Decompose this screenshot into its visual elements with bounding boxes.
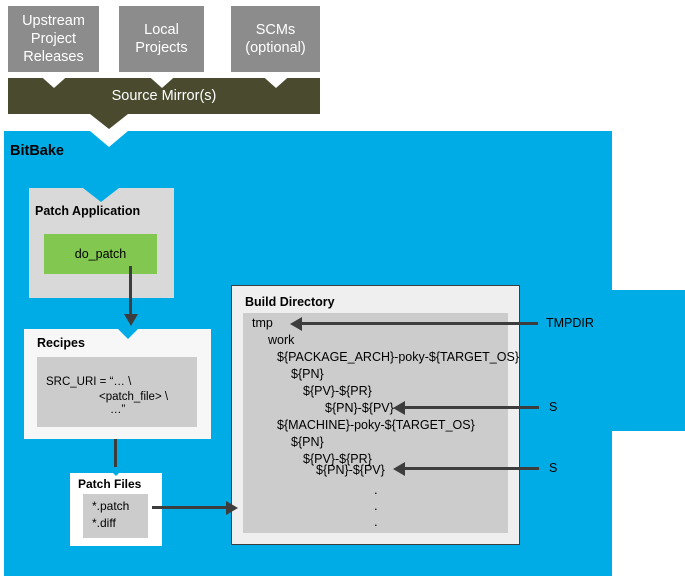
do-patch-task-box[interactable]: do_patch (44, 234, 157, 274)
callout-s1-line (403, 406, 539, 409)
tree-node-pn-1: ${PN} (291, 367, 324, 381)
scms-optional-box: SCMs (optional) (231, 6, 320, 72)
tree-node-package-arch: ${PACKAGE_ARCH}-poky-${TARGET_OS} (277, 350, 519, 364)
build-directory-title: Build Directory (245, 295, 335, 309)
ellipsis-dot-1: . (374, 482, 378, 497)
arrow-patch-files-to-build-dir-line (152, 506, 230, 509)
local-projects-box: Local Projects (119, 6, 204, 72)
arrow-patch-files-to-build-dir-head (226, 501, 238, 515)
tree-node-tmp: tmp (252, 316, 273, 330)
tree-node-machine: ${MACHINE}-poky-${TARGET_OS} (277, 418, 475, 432)
chevron-down-icon-patch-app-top (83, 188, 119, 202)
recipes-title: Recipes (37, 336, 85, 350)
patch-application-title: Patch Application (35, 204, 140, 218)
src-uri-line-2: <patch_file> \ (99, 391, 168, 403)
tree-node-pv-pr-1: ${PV}-${PR} (303, 384, 372, 398)
scms-optional-label: SCMs (optional) (245, 21, 305, 57)
src-uri-line-1: SRC_URI = “… \ (46, 376, 131, 388)
callout-label-tmpdir: TMPDIR (546, 316, 594, 330)
chevron-down-icon-local (144, 72, 180, 88)
callout-label-s-2: S (549, 461, 557, 475)
upstream-project-releases-label: Upstream Project Releases (22, 12, 85, 66)
chevron-down-icon-mirror (90, 114, 128, 129)
list-item: *.patch (92, 498, 148, 515)
source-mirrors-label: Source Mirror(s) (112, 88, 217, 104)
bitbake-label: BitBake (10, 143, 64, 159)
arrow-do-patch-to-recipes-line (129, 266, 132, 316)
diagram-canvas: Upstream Project Releases Local Projects… (0, 0, 685, 576)
bitbake-region-extension (612, 290, 685, 431)
callout-tmpdir-line (300, 322, 538, 325)
chevron-down-icon-bitbake-inlet (90, 131, 128, 147)
local-projects-label: Local Projects (135, 21, 187, 57)
src-uri-line-3: …” (110, 404, 125, 416)
callout-tmpdir-head (290, 317, 302, 331)
patch-files-list: *.patch *.diff (83, 494, 148, 538)
callout-label-s-1: S (549, 400, 557, 414)
tree-node-work: work (268, 333, 294, 347)
ellipsis-dot-3: . (374, 514, 378, 529)
tree-node-pn-pv-1: ${PN}-${PV} (325, 401, 394, 415)
do-patch-label: do_patch (75, 247, 126, 261)
src-uri-code-box: SRC_URI = “… \ <patch_file> \ …” (37, 357, 197, 427)
chevron-down-icon-patch-app-bottom (83, 298, 119, 312)
callout-s2-head (393, 462, 405, 476)
list-item: *.diff (92, 515, 148, 532)
tree-node-pn-pv-2: ${PN}-${PV} (316, 463, 385, 477)
callout-s2-line (403, 467, 539, 470)
ellipsis-dot-2: . (374, 498, 378, 513)
upstream-project-releases-box: Upstream Project Releases (8, 6, 99, 72)
chevron-down-icon-upstream (36, 72, 72, 88)
arrow-do-patch-to-recipes-head (124, 314, 138, 326)
chevron-down-icon-scms (258, 72, 294, 88)
patch-files-title: Patch Files (78, 477, 141, 491)
tree-node-pn-2: ${PN} (291, 435, 324, 449)
chevron-down-icon-patch-files-top (106, 466, 126, 476)
chevron-down-icon-recipes-top (118, 329, 138, 339)
arrow-recipes-to-patch-files-line (114, 439, 117, 467)
callout-s1-head (393, 401, 405, 415)
